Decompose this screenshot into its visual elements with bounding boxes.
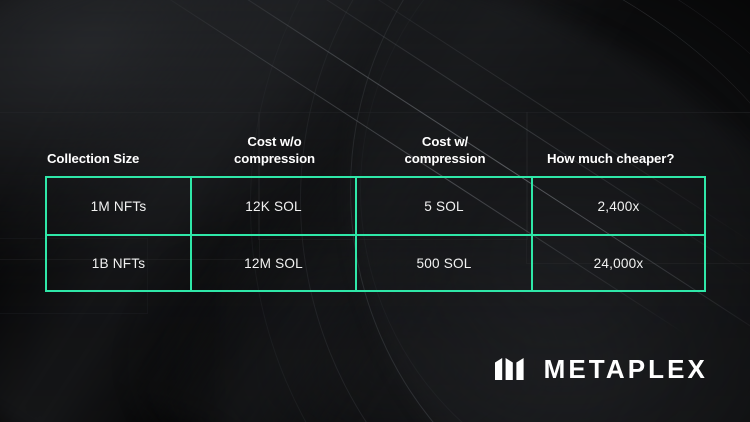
table-body: 1M NFTs 12K SOL 5 SOL 2,400x 1B NFTs 12M… <box>45 176 706 292</box>
brand-lockup: METAPLEX <box>495 356 708 382</box>
cell-cost-with-compression: 500 SOL <box>355 236 531 290</box>
column-header-cost-with-compression: Cost w/ compression <box>357 112 533 176</box>
cell-cost-without-compression: 12M SOL <box>190 236 355 290</box>
column-header-cost-without-compression: Cost w/o compression <box>192 112 357 176</box>
table-row: 1M NFTs 12K SOL 5 SOL 2,400x <box>47 178 704 234</box>
cell-how-much-cheaper: 2,400x <box>531 178 704 234</box>
cell-collection-size: 1B NFTs <box>47 236 190 290</box>
slide-canvas: Collection Size Cost w/o compression Cos… <box>0 0 750 422</box>
metaplex-wordmark: METAPLEX <box>544 356 708 382</box>
cell-cost-with-compression: 5 SOL <box>355 178 531 234</box>
table-header-row: Collection Size Cost w/o compression Cos… <box>45 112 706 176</box>
cell-collection-size: 1M NFTs <box>47 178 190 234</box>
cell-cost-without-compression: 12K SOL <box>190 178 355 234</box>
table-row: 1B NFTs 12M SOL 500 SOL 24,000x <box>47 234 704 290</box>
column-header-how-much-cheaper: How much cheaper? <box>533 112 706 176</box>
comparison-table: Collection Size Cost w/o compression Cos… <box>45 112 706 292</box>
metaplex-m-logo-icon <box>495 358 529 380</box>
column-header-collection-size: Collection Size <box>45 112 192 176</box>
cell-how-much-cheaper: 24,000x <box>531 236 704 290</box>
